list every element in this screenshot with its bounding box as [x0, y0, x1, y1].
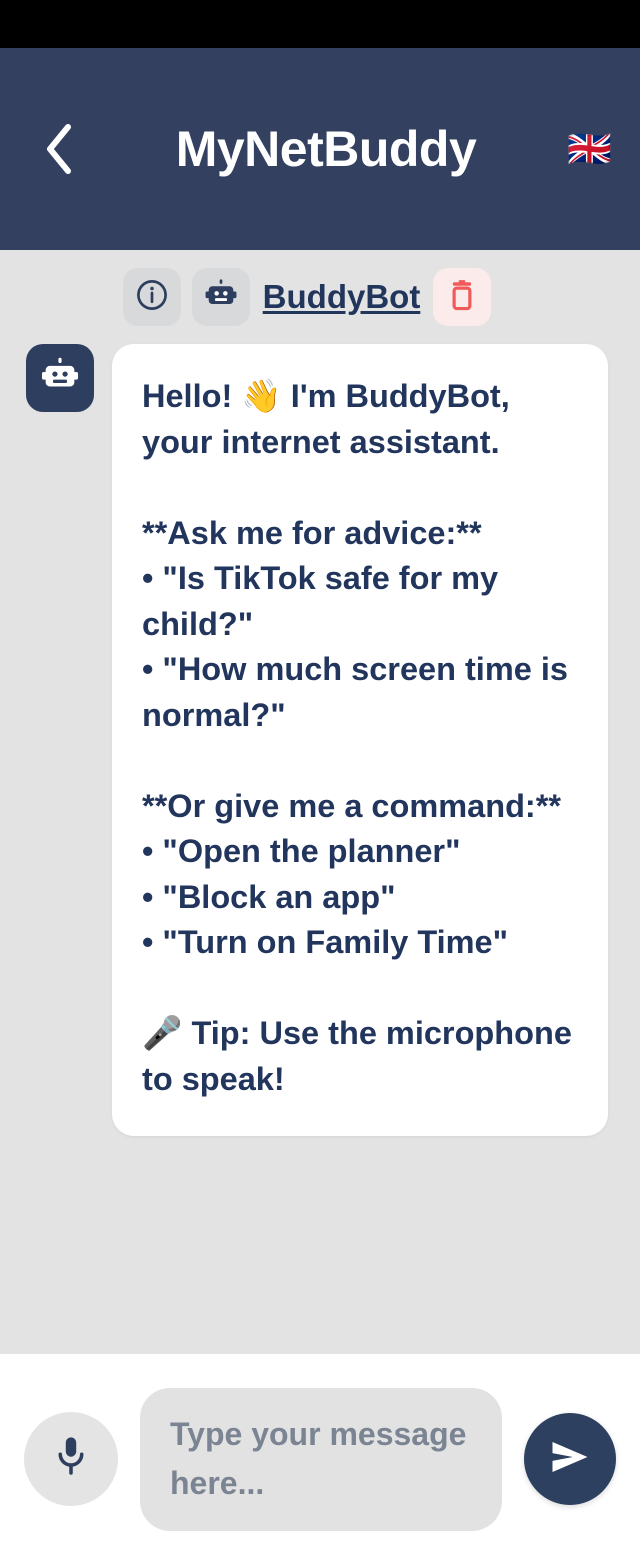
- microphone-icon: [52, 1434, 90, 1485]
- microphone-button[interactable]: [24, 1412, 118, 1506]
- message-input[interactable]: [140, 1388, 502, 1531]
- message-composer: [0, 1354, 640, 1564]
- trash-icon: [447, 279, 477, 316]
- avatar: [26, 344, 94, 412]
- chat-area: BuddyBot: [0, 250, 640, 1354]
- send-button[interactable]: [524, 1413, 616, 1505]
- bot-header-bar: BuddyBot: [0, 268, 640, 326]
- delete-conversation-button[interactable]: [433, 268, 491, 326]
- bot-message-text: Hello! 👋 I'm BuddyBot, your internet ass…: [142, 374, 578, 1102]
- bot-avatar-button[interactable]: [192, 268, 250, 326]
- app-header: MyNetBuddy 🇬🇧: [0, 48, 640, 250]
- bot-message-bubble: Hello! 👋 I'm BuddyBot, your internet ass…: [112, 344, 608, 1136]
- send-icon: [547, 1436, 593, 1483]
- robot-icon: [39, 355, 81, 402]
- chat-screen: MyNetBuddy 🇬🇧: [0, 0, 640, 1564]
- status-bar: [0, 0, 640, 48]
- info-icon: [135, 278, 169, 317]
- robot-icon: [203, 277, 239, 318]
- bot-message-row: Hello! 👋 I'm BuddyBot, your internet ass…: [0, 326, 640, 1136]
- bot-name-link[interactable]: BuddyBot: [261, 278, 423, 316]
- language-flag-icon[interactable]: 🇬🇧: [567, 131, 612, 167]
- page-title: MyNetBuddy: [0, 120, 640, 178]
- bot-info-button[interactable]: [123, 268, 181, 326]
